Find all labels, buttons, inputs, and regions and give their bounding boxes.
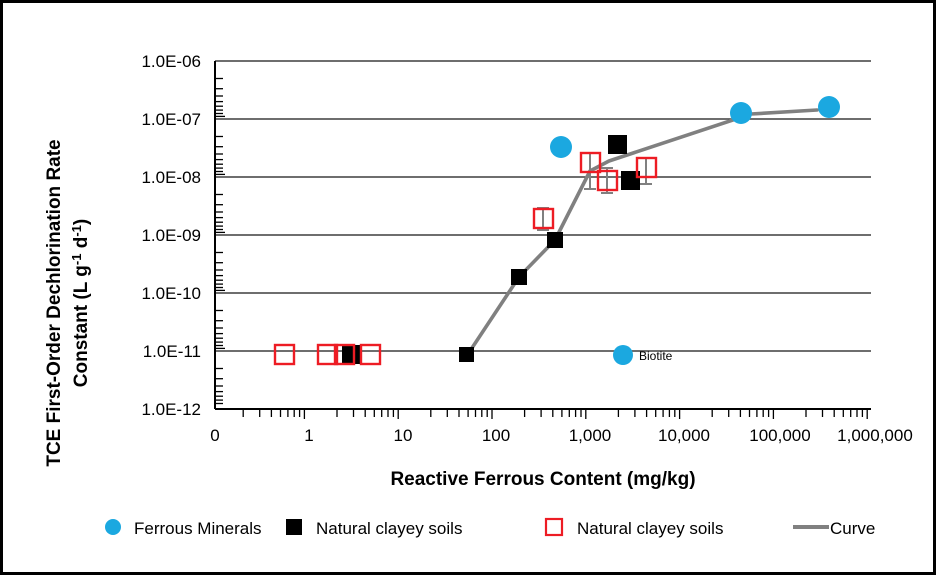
data-point-marker: [818, 96, 840, 118]
y-tick-label: 1.0E-11: [143, 342, 201, 361]
x-minor-ticks: [243, 409, 867, 419]
ylabel-part-2: d: [71, 237, 92, 254]
ylabel-sup-1: -1: [69, 254, 84, 266]
data-point-marker: [275, 345, 294, 364]
legend-marker-ferrous-minerals: [105, 519, 121, 535]
x-tick-label: 100,000: [749, 426, 810, 445]
ylabel-part-1: Constant (L g: [71, 265, 92, 387]
x-tick-label: 1,000: [569, 426, 612, 445]
horizontal-gridlines: [215, 61, 871, 351]
chart-canvas: TCE First-Order Dechlorination Rate Cons…: [3, 3, 936, 575]
error-bars: [537, 153, 652, 230]
y-tick-label: 1.0E-08: [141, 168, 201, 187]
x-tick-label: 10,000: [658, 426, 710, 445]
trend-curve: [466, 110, 817, 357]
data-point-marker: [459, 347, 474, 362]
legend-marker-natural-clayey-soils-filled: [286, 519, 302, 535]
legend-label-natural-clayey-soils-open: Natural clayey soils: [577, 519, 723, 538]
data-point-marker: [608, 135, 627, 154]
data-point-marker: [342, 345, 354, 364]
x-tick-label: 100: [482, 426, 510, 445]
data-point-marker-biotite: [613, 345, 633, 365]
y-axis-title-line1: TCE First-Order Dechlorination Rate: [44, 139, 65, 466]
x-tick-label: 1,000,000: [837, 426, 913, 445]
legend-label-natural-clayey-soils-filled: Natural clayey soils: [316, 519, 462, 538]
data-point-marker: [361, 345, 380, 364]
data-point-marker: [355, 345, 360, 364]
y-tick-label: 1.0E-12: [141, 400, 201, 419]
x-tick-label: 10: [394, 426, 413, 445]
data-point-marker: [730, 102, 752, 124]
ylabel-part-3: ): [71, 219, 92, 225]
series-ferrous-minerals: [550, 96, 840, 365]
annotation-biotite: Biotite: [639, 349, 673, 363]
y-axis-title: TCE First-Order Dechlorination Rate Cons…: [44, 139, 92, 466]
series-natural-clayey-soils-open: [275, 153, 656, 364]
y-tick-label: 1.0E-06: [141, 52, 201, 71]
data-point-marker: [511, 269, 527, 285]
legend-label-curve: Curve: [830, 519, 875, 538]
y-minor-ticks: [215, 79, 225, 404]
y-tick-labels: 1.0E-06 1.0E-07 1.0E-08 1.0E-09 1.0E-10 …: [141, 52, 201, 419]
y-tick-label: 1.0E-07: [141, 110, 201, 129]
legend-label-ferrous-minerals: Ferrous Minerals: [134, 519, 262, 538]
data-point-marker: [547, 232, 563, 248]
chart-figure: TCE First-Order Dechlorination Rate Cons…: [0, 0, 936, 575]
x-axis-title: Reactive Ferrous Content (mg/kg): [390, 469, 695, 490]
legend-marker-natural-clayey-soils-open: [546, 519, 562, 535]
y-axis-title-line2: Constant (L g-1 d-1): [69, 219, 92, 387]
x-tick-label: 0: [210, 426, 219, 445]
x-tick-labels: 0 1 10 100 1,000 10,000 100,000 1,000,00…: [210, 426, 913, 445]
y-tick-label: 1.0E-09: [141, 226, 201, 245]
ylabel-sup-2: -1: [69, 225, 84, 237]
data-point-marker: [550, 136, 572, 158]
x-tick-label: 1: [304, 426, 313, 445]
y-tick-label: 1.0E-10: [141, 284, 201, 303]
chart-legend: Ferrous Minerals Natural clayey soils Na…: [105, 519, 875, 538]
